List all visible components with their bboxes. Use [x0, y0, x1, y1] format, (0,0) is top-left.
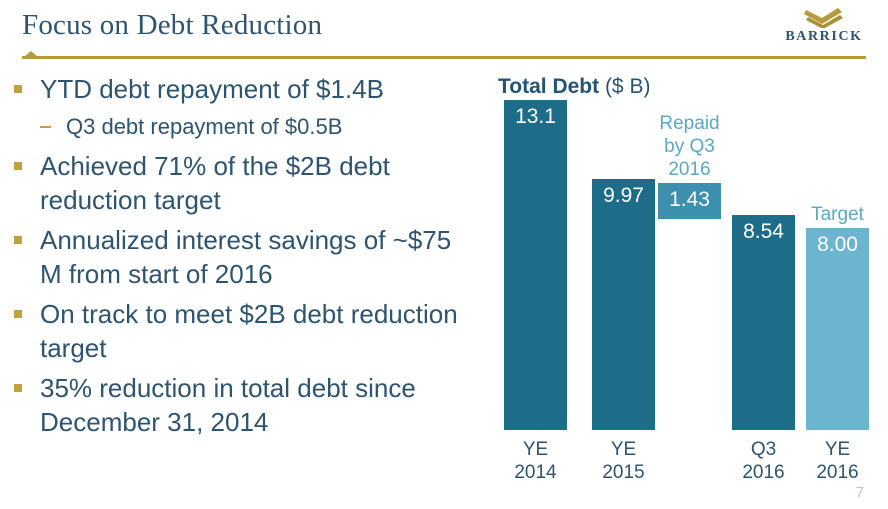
list-item-label: YTD debt repayment of $1.4B: [40, 72, 474, 106]
bullet-square-icon: [14, 223, 40, 244]
bar-value-q3-2016: 8.54: [732, 220, 795, 244]
bar-value-repaid-by-q3-2016: 1.43: [658, 188, 721, 212]
bullet-square-icon: [14, 371, 40, 392]
list-item-label: 35% reduction in total debt since Decemb…: [40, 371, 474, 439]
bar-ye-2016-target: 8.00: [806, 228, 869, 430]
page-number: 7: [856, 484, 864, 501]
list-item: 35% reduction in total debt since Decemb…: [14, 371, 474, 439]
bullet-dash-icon: [40, 112, 66, 128]
list-item-label: On track to meet $2B debt reduction targ…: [40, 297, 474, 365]
list-item-label: Achieved 71% of the $2B debt reduction t…: [40, 149, 474, 217]
list-item: Achieved 71% of the $2B debt reduction t…: [14, 149, 474, 217]
barrick-wordmark: BARRICK: [776, 29, 872, 45]
title-divider-tick: [24, 51, 38, 57]
list-item-label: Annualized interest savings of ~$75 M fr…: [40, 223, 474, 291]
bar-annotation-ye-2016-target: Target: [806, 203, 869, 226]
bullet-square-icon: [14, 297, 40, 318]
chart-title: Total Debt ($ B): [498, 75, 650, 99]
bullet-list: YTD debt repayment of $1.4B Q3 debt repa…: [14, 72, 474, 445]
category-label-ye-2014: YE 2014: [504, 438, 567, 484]
bullet-square-icon: [14, 72, 40, 93]
barrick-chevron-icon: [802, 6, 846, 28]
chart-title-strong: Total Debt: [498, 75, 599, 98]
bar-ye-2014: 13.1: [504, 100, 567, 430]
chart-plot-area: 13.1YE 20149.97YE 20151.43Repaid by Q3 2…: [490, 100, 882, 430]
slide: Focus on Debt Reduction BARRICK YTD debt…: [0, 0, 888, 509]
list-item: YTD debt repayment of $1.4B: [14, 72, 474, 106]
category-label-ye-2015: YE 2015: [592, 438, 655, 484]
page-title: Focus on Debt Reduction: [22, 9, 322, 42]
bar-value-ye-2016-target: 8.00: [806, 233, 869, 257]
chart-title-unit: ($ B): [599, 75, 650, 98]
bar-ye-2015: 9.97: [592, 179, 655, 430]
category-label-ye-2016-target: YE 2016: [806, 438, 869, 484]
bar-repaid-by-q3-2016: 1.43: [658, 183, 721, 219]
total-debt-chart: Total Debt ($ B) 13.1YE 20149.97YE 20151…: [490, 70, 882, 480]
list-item-label: Q3 debt repayment of $0.5B: [66, 112, 474, 142]
list-item: On track to meet $2B debt reduction targ…: [14, 297, 474, 365]
bar-value-ye-2014: 13.1: [504, 105, 567, 129]
category-label-q3-2016: Q3 2016: [732, 438, 795, 484]
list-item: Q3 debt repayment of $0.5B: [14, 112, 474, 142]
list-item: Annualized interest savings of ~$75 M fr…: [14, 223, 474, 291]
bullet-square-icon: [14, 149, 40, 170]
bar-value-ye-2015: 9.97: [592, 184, 655, 208]
title-divider: [22, 56, 866, 59]
bar-annotation-repaid-by-q3-2016: Repaid by Q3 2016: [658, 112, 721, 181]
barrick-logo: BARRICK: [776, 6, 872, 50]
bar-q3-2016: 8.54: [732, 215, 795, 430]
